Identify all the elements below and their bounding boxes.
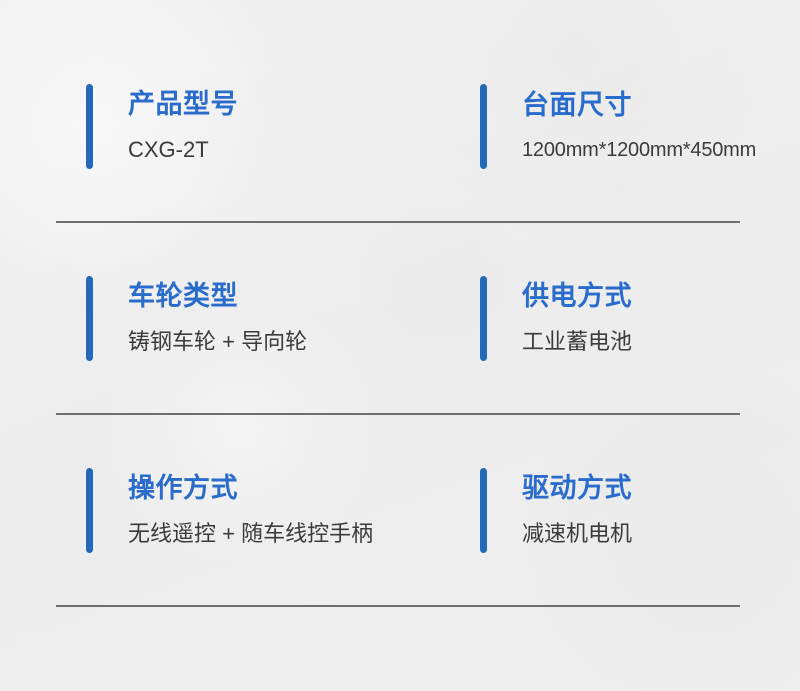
spec-grid: 产品型号 CXG-2T 台面尺寸 1200mm*1200mm*450mm 车轮类… — [0, 0, 800, 691]
spec-item-text: 台面尺寸 1200mm*1200mm*450mm — [522, 80, 756, 172]
spec-item-value: 1200mm*1200mm*450mm — [522, 140, 756, 160]
spec-item-table-size: 台面尺寸 1200mm*1200mm*450mm — [480, 30, 790, 222]
spec-item-power-supply: 供电方式 工业蓄电池 — [480, 222, 790, 414]
spec-item-text: 供电方式 工业蓄电池 — [522, 272, 632, 364]
accent-bar-icon — [480, 276, 487, 361]
spec-item-title: 产品型号 — [128, 91, 238, 118]
spec-item-title: 驱动方式 — [522, 475, 632, 502]
row-divider — [56, 605, 740, 607]
spec-item-text: 驱动方式 减速机电机 — [522, 464, 632, 556]
spec-item-operation-mode: 操作方式 无线遥控 + 随车线控手柄 — [86, 414, 466, 606]
spec-item-title: 车轮类型 — [128, 283, 307, 310]
spec-item-value: 减速机电机 — [522, 523, 632, 545]
spec-item-value: 无线遥控 + 随车线控手柄 — [128, 523, 373, 545]
accent-bar-icon — [86, 276, 93, 361]
spec-item-text: 操作方式 无线遥控 + 随车线控手柄 — [128, 464, 373, 556]
row-divider — [56, 221, 740, 223]
spec-item-wheel-type: 车轮类型 铸钢车轮 + 导向轮 — [86, 222, 466, 414]
spec-item-title: 操作方式 — [128, 475, 373, 502]
spec-item-product-model: 产品型号 CXG-2T — [86, 30, 466, 222]
spec-item-drive-mode: 驱动方式 减速机电机 — [480, 414, 790, 606]
spec-item-value: 铸钢车轮 + 导向轮 — [128, 331, 307, 353]
spec-item-value: CXG-2T — [128, 139, 238, 161]
spec-row: 车轮类型 铸钢车轮 + 导向轮 供电方式 工业蓄电池 — [0, 222, 800, 414]
spec-item-value: 工业蓄电池 — [522, 331, 632, 353]
accent-bar-icon — [86, 468, 93, 553]
spec-item-text: 产品型号 CXG-2T — [128, 80, 238, 172]
accent-bar-icon — [480, 468, 487, 553]
accent-bar-icon — [480, 84, 487, 169]
product-spec-sheet: 产品型号 CXG-2T 台面尺寸 1200mm*1200mm*450mm 车轮类… — [0, 0, 800, 691]
accent-bar-icon — [86, 84, 93, 169]
spec-item-text: 车轮类型 铸钢车轮 + 导向轮 — [128, 272, 307, 364]
spec-row: 操作方式 无线遥控 + 随车线控手柄 驱动方式 减速机电机 — [0, 414, 800, 606]
row-divider — [56, 413, 740, 415]
spec-row: 产品型号 CXG-2T 台面尺寸 1200mm*1200mm*450mm — [0, 30, 800, 222]
spec-item-title: 供电方式 — [522, 283, 632, 310]
spec-item-title: 台面尺寸 — [522, 92, 756, 119]
